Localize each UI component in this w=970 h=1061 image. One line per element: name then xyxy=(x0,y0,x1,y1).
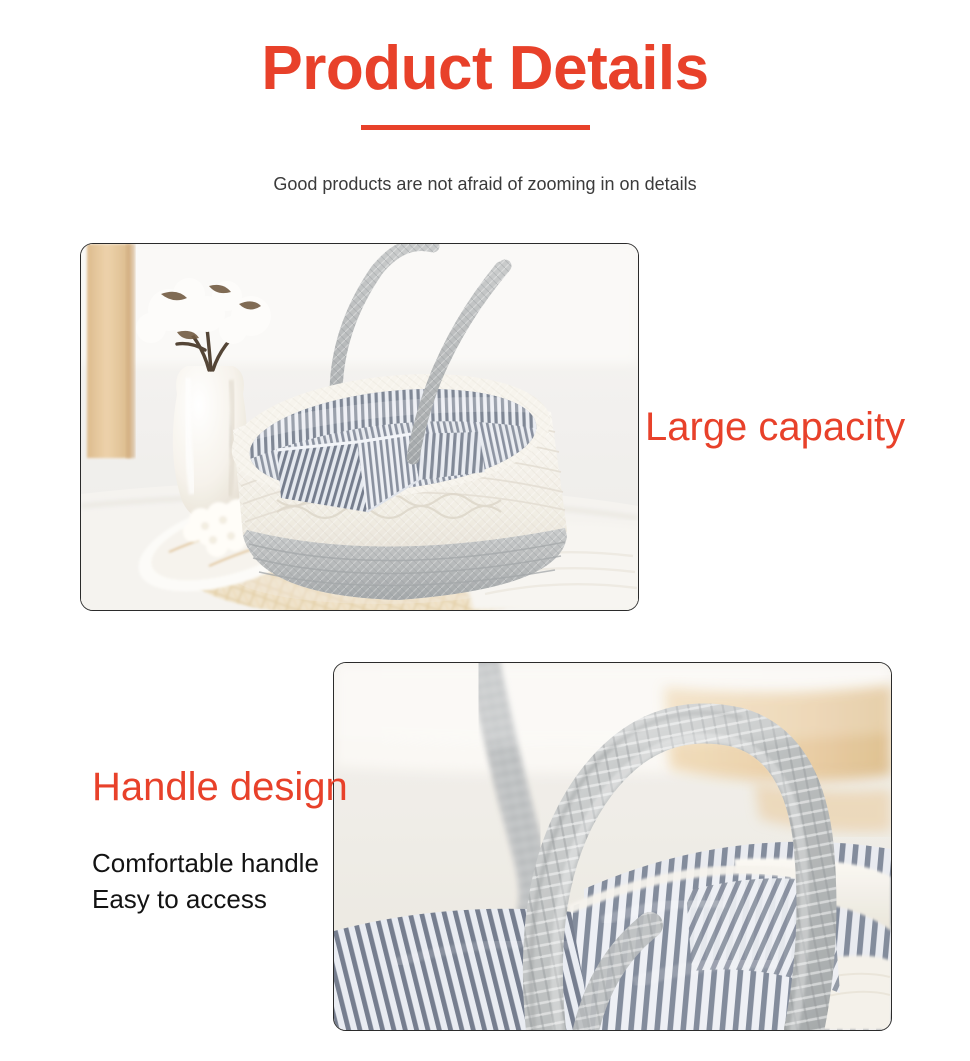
handle-design-description: Comfortable handle Easy to access xyxy=(92,845,319,917)
callout-handle-design: Handle design xyxy=(92,762,348,812)
page-title: Product Details xyxy=(0,32,970,106)
product-photo-large-capacity xyxy=(80,243,639,611)
basket-overview-illustration xyxy=(81,244,638,610)
handle-description-line-1: Comfortable handle xyxy=(92,845,319,881)
page-subtitle: Good products are not afraid of zooming … xyxy=(0,171,970,197)
title-underline-rule xyxy=(361,125,590,130)
handle-description-line-2: Easy to access xyxy=(92,881,319,917)
callout-large-capacity: Large capacity xyxy=(645,402,905,452)
handle-closeup-illustration xyxy=(334,663,891,1030)
product-photo-handle-design xyxy=(333,662,892,1031)
